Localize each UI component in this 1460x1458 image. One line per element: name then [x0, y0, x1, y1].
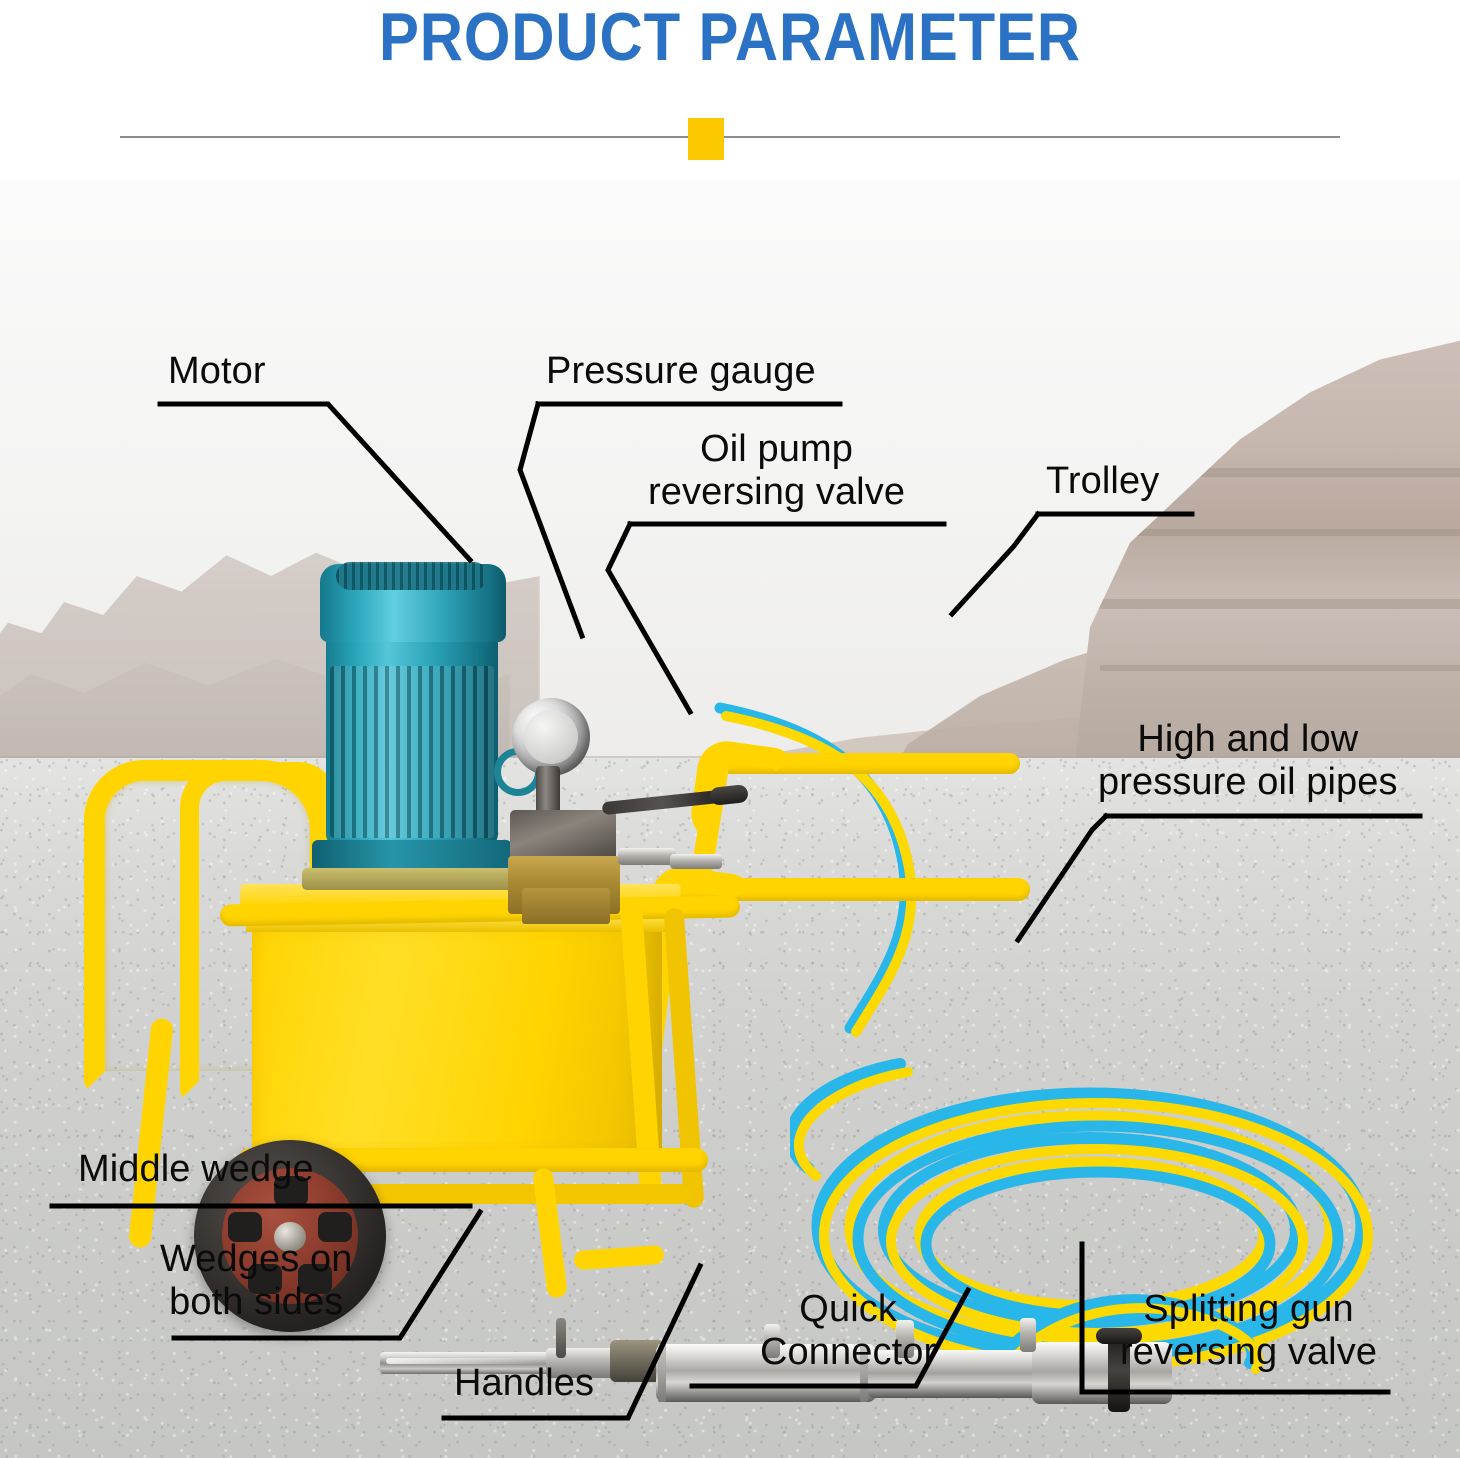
quick-connector-3	[1020, 1318, 1036, 1352]
header-divider	[120, 136, 1340, 138]
label-pressure-gauge: Pressure gauge	[546, 350, 816, 393]
label-trolley: Trolley	[1046, 460, 1159, 503]
trolley-support-foot	[573, 1245, 664, 1270]
hose-fitting-2	[670, 854, 722, 869]
oil-tank	[252, 918, 662, 1168]
label-high-low-pressure-oil-pipes: High and low pressure oil pipes	[1098, 718, 1398, 803]
motor-cooling-fins	[330, 666, 494, 838]
hose-fitting-1	[618, 848, 676, 865]
motor-vent-grille	[336, 562, 488, 590]
label-quick-connector: Quick Connector	[760, 1288, 936, 1373]
label-middle-wedge: Middle wedge	[78, 1148, 314, 1191]
page-header: PRODUCT PARAMETER	[0, 0, 1460, 180]
label-motor: Motor	[168, 350, 266, 393]
gun-handle	[556, 1318, 566, 1358]
label-handles: Handles	[454, 1362, 594, 1405]
label-wedges-on-both-sides: Wedges on both sides	[160, 1238, 352, 1323]
motor-mounting-flange	[302, 868, 522, 890]
label-splitting-gun-reversing-valve: Splitting gun reversing valve	[1120, 1288, 1377, 1373]
page-title: PRODUCT PARAMETER	[88, 0, 1373, 76]
yellow-square-accent	[688, 118, 724, 160]
brass-manifold-lower	[522, 888, 610, 924]
product-parameter-page: PRODUCT PARAMETER	[0, 0, 1460, 1458]
pressure-gauge	[512, 698, 590, 776]
label-oil-pump-reversing-valve: Oil pump reversing valve	[648, 428, 905, 513]
pressure-gauge-face	[524, 710, 578, 764]
